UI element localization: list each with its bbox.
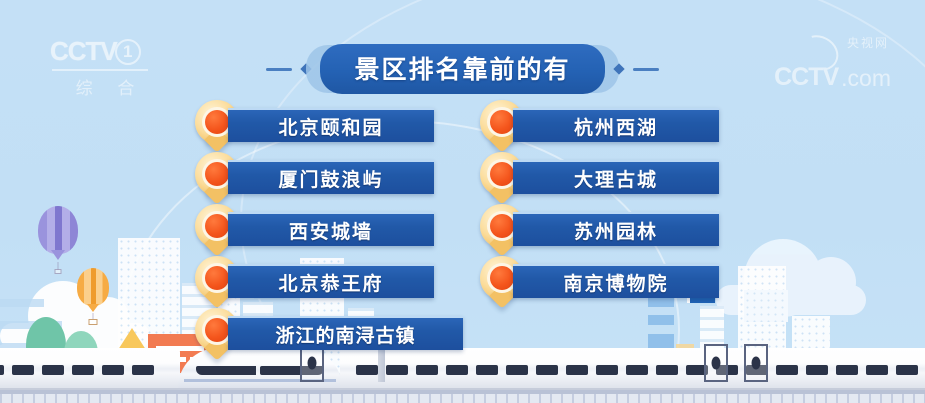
building-dotted-4 [738, 266, 786, 378]
cloud-1 [0, 323, 150, 349]
signal-box-right-b [704, 344, 728, 382]
train-car-1 [0, 348, 180, 390]
building-dotted-1 [118, 238, 180, 378]
attraction-label: 杭州西湖 [574, 113, 658, 140]
title-dash-right [633, 68, 659, 71]
rail [0, 390, 925, 394]
hot-air-balloon-orange-icon [77, 268, 109, 306]
title-pill: 景区排名靠前的有 [320, 44, 604, 94]
building-blue-3 [648, 315, 674, 325]
attraction-bar[interactable]: 北京颐和园 [228, 108, 434, 142]
attraction-label: 苏州园林 [574, 217, 658, 244]
building-yellow-2 [700, 364, 734, 378]
cloud-2 [0, 372, 90, 396]
attraction-label: 南京博物院 [563, 269, 668, 296]
hot-air-balloon-purple-icon [38, 206, 78, 254]
building-dotted-5 [792, 316, 830, 378]
tent-roof [100, 328, 164, 378]
building-blue-4 [648, 297, 674, 307]
train-nose-right [256, 348, 342, 390]
title-dash-left [266, 68, 292, 71]
attraction-bar[interactable]: 厦门鼓浪屿 [228, 160, 434, 194]
tree-1 [26, 317, 66, 373]
ground [0, 373, 925, 403]
building-lined-4 [700, 306, 724, 378]
title-pill-main: 景区排名靠前的有 [320, 44, 604, 94]
attraction-label: 北京颐和园 [278, 113, 383, 140]
signal-box-right-a [744, 344, 768, 382]
tree-2 [64, 331, 98, 375]
attraction-label: 西安城墙 [289, 217, 373, 244]
attraction-bar[interactable]: 苏州园林 [513, 212, 719, 246]
attraction-bar[interactable]: 西安城墙 [228, 212, 434, 246]
broadcast-graphic-stage: CCTV 1 综 合 央视网 CCTV .com 景区排名靠前的有 [0, 0, 925, 403]
page-title: 景区排名靠前的有 [354, 55, 570, 84]
title-banner: 景区排名靠前的有 [0, 44, 925, 94]
attraction-label: 浙江的南浔古镇 [275, 321, 415, 348]
attraction-label: 北京恭王府 [278, 269, 383, 296]
accent-dot-panel [744, 290, 788, 322]
stripe-2 [0, 321, 62, 329]
cloud-3 [716, 285, 866, 315]
attraction-label: 厦门鼓浪屿 [278, 165, 383, 192]
attraction-bar[interactable]: 大理古城 [513, 160, 719, 194]
attraction-bar[interactable]: 杭州西湖 [513, 108, 719, 142]
tree-1-trunk [44, 351, 46, 375]
attraction-bar[interactable]: 南京博物院 [513, 264, 719, 298]
building-yellow-1 [676, 344, 694, 378]
shop-sign-line-2 [156, 357, 186, 362]
rail-ties [0, 394, 925, 403]
attraction-bar[interactable]: 北京恭王府 [228, 264, 434, 298]
building-blue-2 [648, 334, 674, 378]
attraction-bar[interactable]: 浙江的南浔古镇 [228, 316, 463, 350]
attraction-label: 大理古城 [574, 165, 658, 192]
stripe-1 [0, 299, 44, 307]
train-car-2 [340, 348, 925, 390]
stripe-3 [0, 343, 36, 351]
